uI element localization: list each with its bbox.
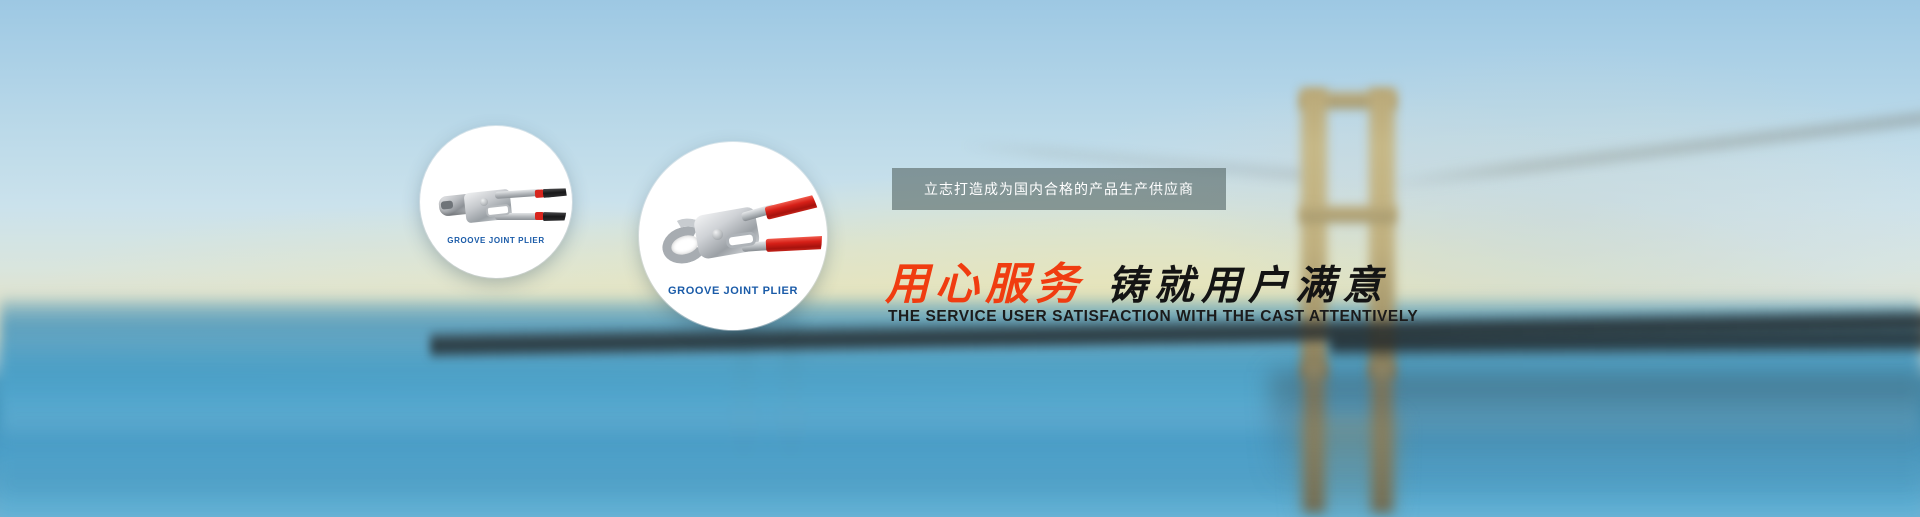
tagline-text: 立志打造成为国内合格的产品生产供应商 (924, 179, 1194, 199)
plier-red-band-lower (535, 212, 544, 220)
tower-crossbar-middle (1300, 206, 1396, 223)
plier-handle-upper (764, 192, 827, 220)
subheadline: THE SERVICE USER SATISFACTION WITH THE C… (888, 308, 1528, 326)
plier-handle-lower (543, 212, 572, 221)
bridge-deck-far (1330, 328, 1920, 358)
headline-black-text: 铸就用户满意 (1107, 262, 1389, 309)
bridge-tower-reflection (1296, 418, 1400, 517)
plier-pivot-rivet (712, 229, 723, 240)
product-circle-groove-joint-plier-red[interactable]: GROOVE JOINT PLIER (639, 142, 827, 330)
groove-joint-plier-black-illustration (439, 183, 567, 229)
headline-red-text: 用心服务 (885, 259, 1085, 310)
plier-handle-upper (543, 186, 572, 198)
product-label-2: GROOVE JOINT PLIER (644, 285, 822, 297)
headline: 用心服务铸就用户满意 (885, 248, 1505, 300)
plier-pivot-rivet (480, 198, 488, 206)
product-circle-groove-joint-plier-black[interactable]: GROOVE JOINT PLIER (420, 126, 572, 278)
tagline-box: 立志打造成为国内合格的产品生产供应商 (892, 168, 1226, 210)
plier-handle-lower (766, 236, 827, 252)
groove-joint-plier-red-illustration (662, 205, 827, 273)
hero-banner: GROOVE JOINT PLIER GROOVE JOINT PLIER 立志… (0, 0, 1920, 517)
product-label-1: GROOVE JOINT PLIER (425, 236, 567, 245)
